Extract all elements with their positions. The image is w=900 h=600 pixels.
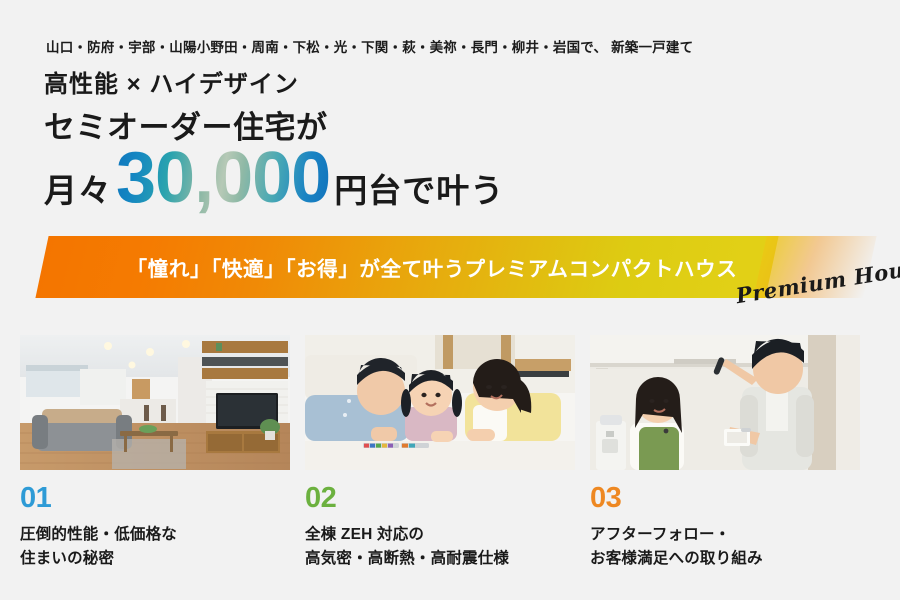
card-number: 01: [20, 484, 290, 513]
card-title-line1: 全棟 ZEH 対応の: [305, 523, 575, 547]
living-room-interior-photo: [20, 335, 290, 470]
card-number: 03: [590, 484, 860, 513]
card-title-line1: アフターフォロー・: [590, 523, 860, 547]
card-number: 02: [305, 484, 575, 513]
card-title-line1: 圧倒的性能・低価格な: [20, 523, 290, 547]
woman-staff-figure: [630, 377, 684, 470]
feature-cards: 01 圧倒的性能・低価格な 住まいの秘密: [0, 335, 900, 600]
hero-kicker: 高性能 × ハイデザイン: [44, 64, 299, 99]
family-on-floor-photo: [305, 335, 575, 470]
crayons: [363, 443, 429, 448]
staff-consultation-photo: [590, 335, 860, 470]
card-title: 圧倒的性能・低価格な 住まいの秘密: [20, 523, 290, 571]
price-suffix: 円台で叶う: [334, 174, 504, 214]
card-title-line2: お客様満足への取り組み: [590, 547, 860, 571]
card-title-line2: 住まいの秘密: [20, 547, 290, 571]
card-title-line2: 高気密・高断熱・高耐震仕様: [305, 547, 575, 571]
price-headline: 月々 30,000 円台で叶う: [44, 142, 504, 214]
card-title: 全棟 ZEH 対応の 高気密・高断熱・高耐震仕様: [305, 523, 575, 571]
feature-card[interactable]: 03 アフターフォロー・ お客様満足への取り組み: [590, 335, 860, 571]
card-title: アフターフォロー・ お客様満足への取り組み: [590, 523, 860, 571]
water-dispenser: [596, 415, 626, 470]
price-amount: 30,000: [112, 142, 334, 214]
feature-card[interactable]: 02 全棟 ZEH 対応の 高気密・高断熱・高耐震仕様: [305, 335, 575, 571]
service-area-line: 山口・防府・宇部・山陽小野田・周南・下松・光・下関・萩・美祢・長門・柳井・岩国で…: [46, 36, 693, 56]
price-prefix: 月々: [44, 174, 112, 214]
feature-card[interactable]: 01 圧倒的性能・低価格な 住まいの秘密: [20, 335, 290, 571]
